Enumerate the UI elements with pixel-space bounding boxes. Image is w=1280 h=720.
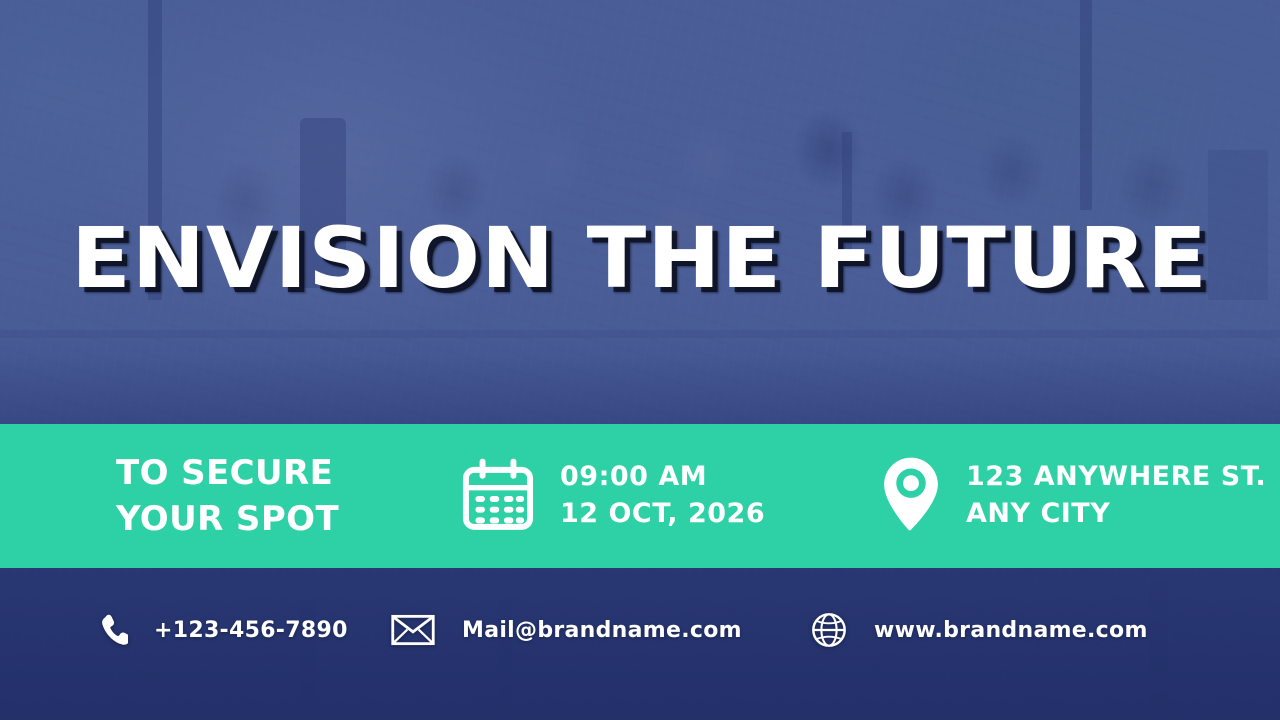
- event-time: 09:00 AM: [560, 459, 765, 496]
- info-band: TO SECURE YOUR SPOT: [0, 424, 1280, 568]
- location-text-block: 123 ANYWHERE ST. ANY CITY: [966, 459, 1266, 532]
- contact-website[interactable]: www.brandname.com: [810, 611, 1280, 649]
- date-text-block: 09:00 AM 12 OCT, 2026: [560, 459, 765, 532]
- phone-icon: [98, 613, 128, 647]
- phone-number: +123-456-7890: [154, 618, 348, 643]
- headline-container: ENVISION THE FUTURE: [0, 216, 1280, 300]
- address-line-2: ANY CITY: [966, 496, 1266, 533]
- calendar-icon: [460, 458, 536, 534]
- globe-icon: [810, 611, 848, 649]
- location-cell: 123 ANYWHERE ST. ANY CITY: [880, 455, 1280, 537]
- envelope-icon: [390, 614, 436, 646]
- email-address: Mail@brandname.com: [462, 618, 742, 643]
- website-url: www.brandname.com: [874, 618, 1148, 643]
- contact-phone[interactable]: +123-456-7890: [0, 613, 390, 647]
- date-cell: 09:00 AM 12 OCT, 2026: [460, 458, 880, 534]
- cta-cell: TO SECURE YOUR SPOT: [0, 450, 460, 542]
- cta-text: TO SECURE YOUR SPOT: [116, 450, 339, 542]
- banner-headline: ENVISION THE FUTURE: [72, 216, 1209, 300]
- event-date: 12 OCT, 2026: [560, 496, 765, 533]
- location-pin-icon: [880, 455, 942, 537]
- contact-footer: +123-456-7890 Mail@brandname.com www.bra…: [0, 594, 1280, 666]
- contact-email[interactable]: Mail@brandname.com: [390, 614, 810, 646]
- address-line-1: 123 ANYWHERE ST.: [966, 459, 1266, 496]
- event-banner: ENVISION THE FUTURE TO SECURE YOUR SPOT: [0, 0, 1280, 720]
